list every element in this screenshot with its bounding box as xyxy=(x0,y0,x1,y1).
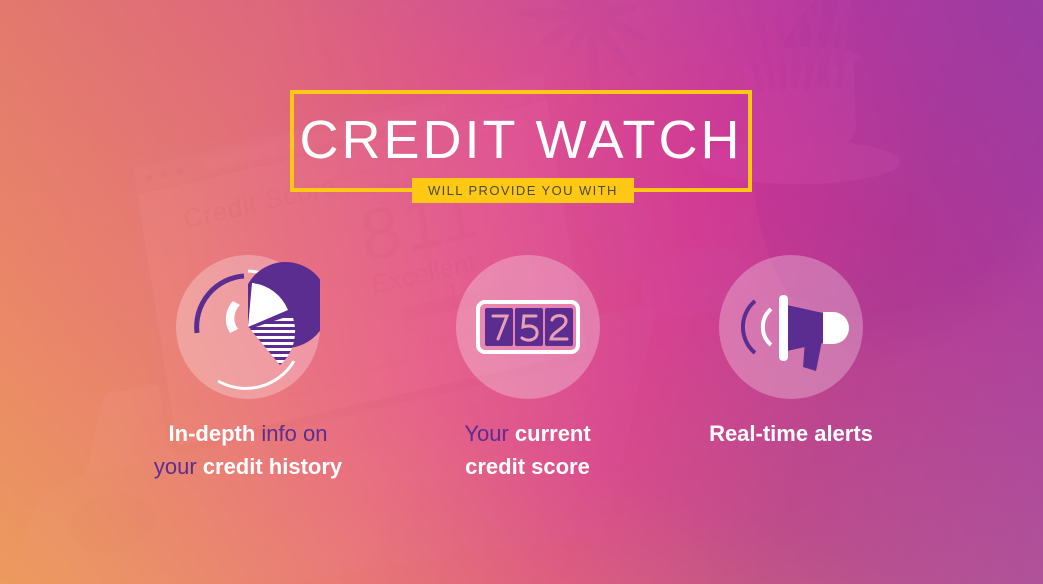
feature-icon-circle xyxy=(176,255,320,399)
title-frame: CREDIT WATCH xyxy=(290,90,752,192)
caption-segment-2: credit score xyxy=(465,454,590,479)
feature-item-alerts: Real-time alerts xyxy=(662,255,920,450)
subtitle-banner: WILL PROVIDE YOU WITH xyxy=(412,178,634,203)
caption-segment-2: your xyxy=(154,454,203,479)
credit-score-digits-icon xyxy=(456,255,600,399)
page-title: CREDIT WATCH xyxy=(294,109,748,171)
caption-segment-0: Real-time alerts xyxy=(709,421,873,446)
feature-caption: Your current credit score xyxy=(400,417,655,483)
feature-icon-circle xyxy=(456,255,600,399)
megaphone-icon xyxy=(719,255,863,399)
feature-icon-circle xyxy=(719,255,863,399)
caption-segment-1: current xyxy=(515,421,591,446)
caption-segment-0: Your xyxy=(464,421,515,446)
slide-canvas: Credit Score Overview Want By Category M… xyxy=(0,0,1043,584)
feature-item-credit-history: In-depth info on your credit history xyxy=(118,255,378,483)
caption-segment-1: info on xyxy=(261,421,327,446)
subtitle-text: WILL PROVIDE YOU WITH xyxy=(428,183,618,198)
feature-row: In-depth info on your credit history xyxy=(0,255,1043,485)
caption-segment-0: In-depth xyxy=(169,421,262,446)
caption-segment-3: credit history xyxy=(203,454,342,479)
feature-caption: In-depth info on your credit history xyxy=(118,417,378,483)
feature-item-credit-score: Your current credit score xyxy=(400,255,655,483)
feature-caption: Real-time alerts xyxy=(662,417,920,450)
pie-chart-icon xyxy=(176,255,320,399)
